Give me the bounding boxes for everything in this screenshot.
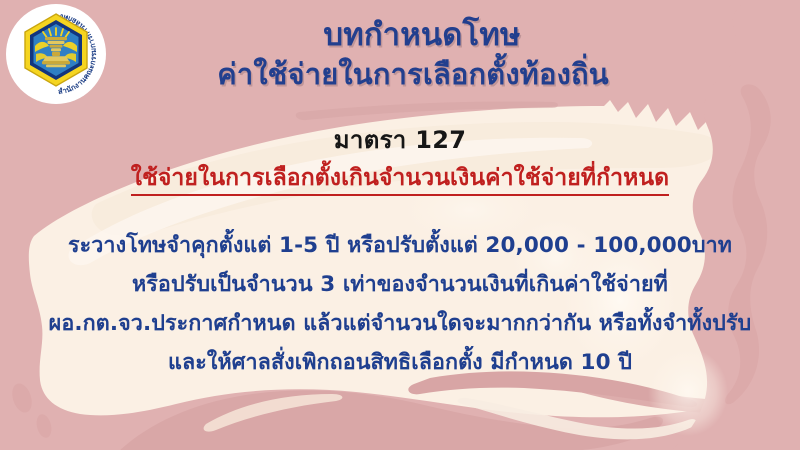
headline-block: บทกำหนดโทษ ค่าใช้จ่ายในการเลือกตั้งท้องถ… <box>0 16 800 93</box>
penalty-line: ระวางโทษจำคุกตั้งแต่ 1-5 ปี หรือปรับตั้ง… <box>0 232 800 260</box>
poster-canvas: สำนักงานคณะกรรมการการเลือกตั้ง <box>0 0 800 450</box>
penalty-line: และให้ศาลสั่งเพิกถอนสิทธิเลือกตั้ง มีกำห… <box>0 349 800 377</box>
election-commission-emblem-icon: สำนักงานคณะกรรมการการเลือกตั้ง <box>4 2 108 106</box>
penalty-line: หรือปรับเป็นจำนวน 3 เท่าของจำนวนเงินที่เ… <box>0 271 800 299</box>
section-number: มาตรา 127 <box>0 120 800 159</box>
headline-line-1: บทกำหนดโทษ <box>0 16 800 56</box>
section-title: ใช้จ่ายในการเลือกตั้งเกินจำนวนเงินค่าใช้… <box>0 160 800 196</box>
penalty-body: ระวางโทษจำคุกตั้งแต่ 1-5 ปี หรือปรับตั้ง… <box>0 232 800 377</box>
section-title-text: ใช้จ่ายในการเลือกตั้งเกินจำนวนเงินค่าใช้… <box>131 165 669 196</box>
penalty-line: ผอ.กต.จว.ประกาศกำหนด แล้วแต่จำนวนใดจะมาก… <box>0 310 800 338</box>
headline-line-2: ค่าใช้จ่ายในการเลือกตั้งท้องถิ่น <box>0 56 800 93</box>
